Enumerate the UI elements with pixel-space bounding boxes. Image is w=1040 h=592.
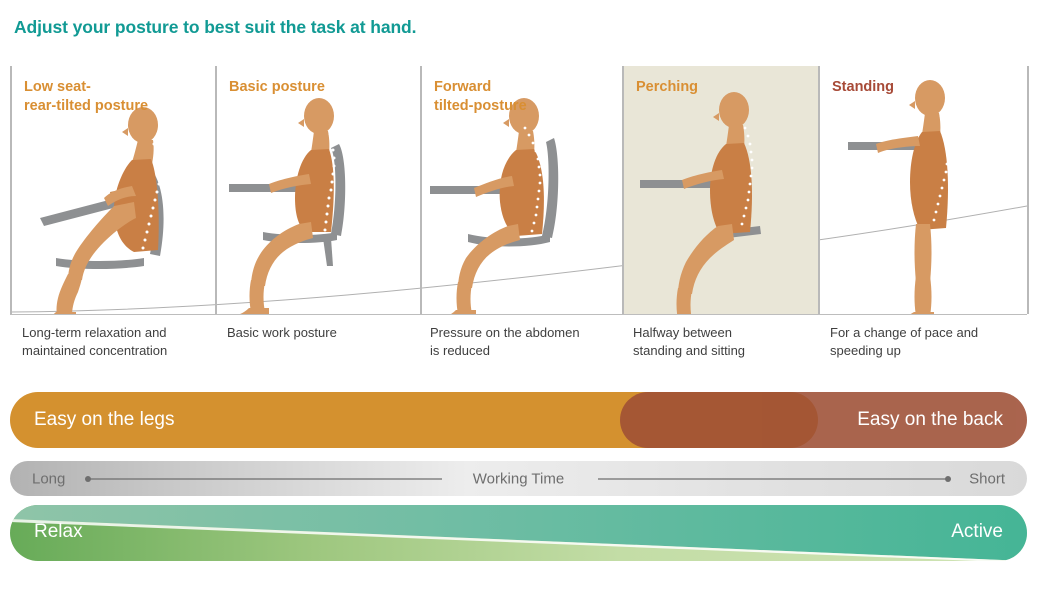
working-time-right-label: Short [969, 470, 1005, 487]
working-time-center-label: Working Time [473, 470, 564, 487]
bar-legs-label: Easy on the legs [34, 409, 174, 431]
bar-back-label: Easy on the back [857, 409, 1003, 431]
infographic-page: Adjust your posture to best suit the tas… [0, 0, 1040, 592]
comparison-bars: Easy on the legs Easy on the back Long W… [0, 0, 1040, 592]
active-label: Active [951, 521, 1003, 543]
relax-active-wedges-icon [10, 505, 1027, 567]
bar-working-time: Long Working Time Short [10, 461, 1027, 496]
working-time-left-label: Long [32, 470, 65, 487]
bar-easy-on-the-back: Easy on the back [620, 392, 1027, 448]
relax-label: Relax [34, 521, 83, 543]
bar-relax-active: Relax Active [10, 505, 1027, 561]
